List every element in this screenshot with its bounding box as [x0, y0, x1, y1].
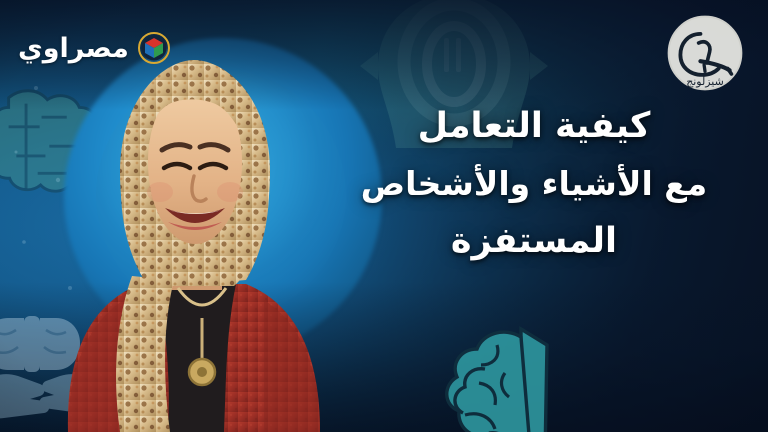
- masrawy-wordmark: مصراوي: [18, 35, 129, 62]
- chaise-longue-wordmark: شيزلونج: [686, 75, 724, 88]
- headline-line-2: مع الأشياء والأشخاص: [334, 167, 734, 202]
- presenter-photo: [28, 32, 358, 432]
- headline: كيفية التعامل مع الأشياء والأشخاص المستف…: [334, 108, 734, 260]
- headline-line-1: كيفية التعامل: [334, 108, 734, 145]
- masrawy-circle-logo-icon: [138, 32, 170, 64]
- thumbnail-canvas: مصراوي شيزلونج كيفية التعامل مع الأشياء …: [0, 0, 768, 432]
- masrawy-logo[interactable]: مصراوي: [18, 32, 170, 64]
- headline-line-3: المستفزة: [334, 223, 734, 260]
- chaise-longue-logo[interactable]: شيزلونج: [664, 12, 746, 94]
